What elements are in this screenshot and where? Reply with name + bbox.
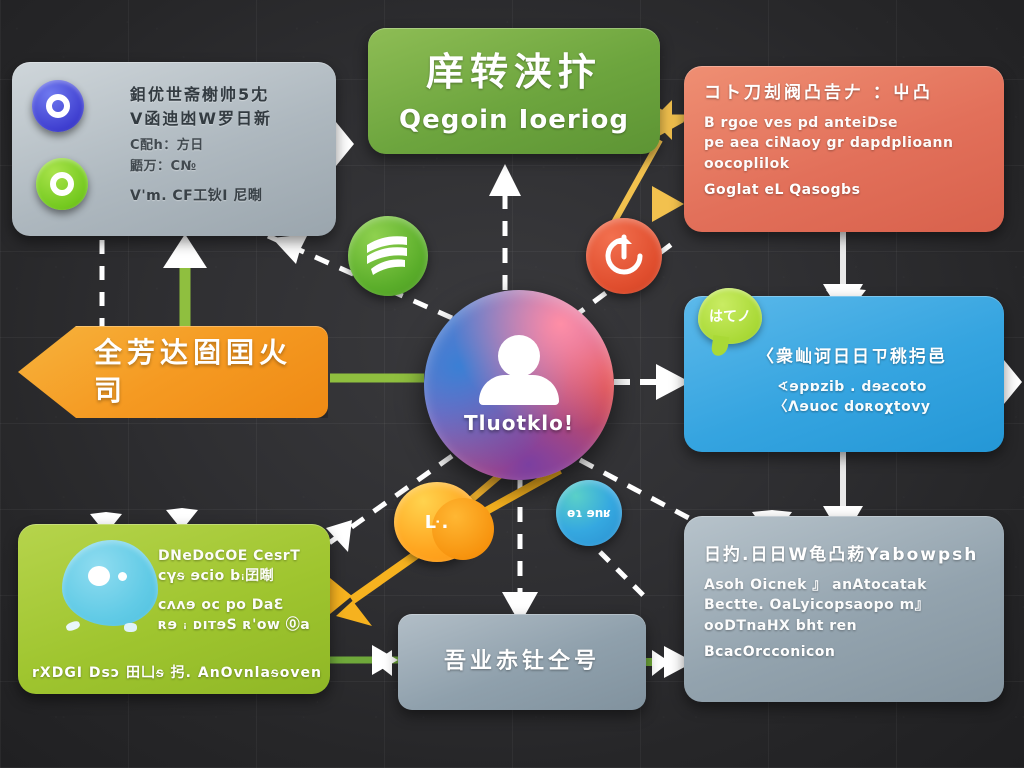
- blob-eye-large: [88, 566, 110, 586]
- layers-glyph: [363, 233, 413, 279]
- connector-hub-to-bluesat: [600, 552, 648, 600]
- connector-cta-to-specs: [163, 234, 207, 326]
- user-icon-head: [498, 335, 540, 377]
- refresh-icon[interactable]: [586, 218, 662, 294]
- hub-label: Tluotklo!: [464, 411, 574, 435]
- status-badge-green-icon[interactable]: [36, 158, 88, 210]
- notes-body-line1: DNeDoCOE CesrT: [158, 546, 314, 566]
- specs-row-1: C配h：方日: [130, 137, 316, 156]
- refresh-glyph: [601, 233, 647, 279]
- speech-bubble-label: はてノ: [709, 306, 751, 326]
- diagram-canvas: 鉬优世斋榭帅5冘 V函迪凼W罗日新 C配h：方日 鼯万：C№ V'm. CF工钬…: [0, 0, 1024, 768]
- cta-label: 全芳达囼囯火司: [94, 334, 310, 410]
- layers-icon[interactable]: [348, 216, 428, 296]
- connector-hub-to-title-dashed: [489, 164, 521, 290]
- specs-heading-line1: 鉬优世斋榭帅5冘: [130, 84, 316, 106]
- alerts-footer: Goglat eL Qasogbs: [704, 182, 984, 198]
- orange-cluster-label: ᒷ.: [425, 512, 450, 533]
- user-icon-body: [479, 375, 559, 405]
- alerts-body-line3: oocoplilok: [704, 154, 984, 174]
- ring-glyph: [46, 94, 70, 118]
- alerts-heading: コト刀刦阀凸𠮷𠂇 ：屮凸: [704, 82, 984, 105]
- chat-heading: 〈衆屾诃日日ㄗ䄻㧈邑: [720, 346, 984, 369]
- node-notes-card[interactable]: DNeDoCOE CesrT cγᵴ ɘcio bꜟ囝㫼 cᴧʌɘ oc po …: [18, 524, 330, 694]
- report-heading: 日扚.日日W龟凸菞Yabowpsh: [704, 544, 984, 567]
- notes-tagline: rXDGI Dsↄ 田凵ᵴ 㧈. AnOvnlaᵴoven: [32, 662, 322, 682]
- connector-hub-to-chat-dashed: [614, 364, 690, 400]
- title-latin-text: Qegoin Ioeriog: [399, 105, 629, 135]
- node-title-banner[interactable]: 庠转浃抃 Qegoin Ioeriog: [368, 28, 660, 154]
- orange-cluster-icon[interactable]: ᒷ.: [394, 482, 480, 562]
- blue-tag-icon[interactable]: өɿ ɘnʁ: [556, 480, 622, 546]
- specs-heading-line2: V函迪凼W罗日新: [130, 108, 316, 130]
- footer-box-label: 吾业赤钍仝号: [444, 647, 600, 677]
- node-footer-box[interactable]: 吾业赤钍仝号: [398, 614, 646, 710]
- blue-tag-label: өɿ ɘnʁ: [567, 507, 611, 520]
- blob-mascot-icon: [62, 540, 158, 626]
- report-body-line1: Asoh Oicnek 』 anAtocatak: [704, 575, 984, 595]
- alerts-body-line2: pe aea ciNaoy gr dapdplioann: [704, 133, 984, 153]
- chat-body-line2: 〈Ʌɘuoc doʀoχtovy: [720, 397, 984, 417]
- speech-bubble-icon[interactable]: はてノ: [698, 288, 762, 344]
- notes-body-line4: ʀɘ ꜟ ᴅıᴛɘS ʀ'ow ⓪a: [158, 615, 314, 635]
- title-cjk-text: 庠转浃抃: [426, 47, 602, 98]
- report-body-line2: Bectte. OaLyicopsaopo m』: [704, 595, 984, 615]
- report-footer: BcacOrcconicon: [704, 644, 984, 660]
- chat-body-line1: ∢ɘpɒzib . dɘƨcoto: [720, 377, 984, 397]
- status-badge-blue-icon[interactable]: [32, 80, 84, 132]
- node-report-card[interactable]: 日扚.日日W龟凸菞Yabowpsh Asoh Oicnek 』 anAtocat…: [684, 516, 1004, 702]
- ring-glyph: [50, 172, 74, 196]
- alerts-body-line1: B rgoe ves pd anteiDse: [704, 113, 984, 133]
- central-hub-node[interactable]: Tluotklo!: [424, 290, 614, 480]
- blob-foot-right: [124, 623, 137, 632]
- notes-body-line2: cγᵴ ɘcio bꜟ囝㫼: [158, 566, 314, 586]
- report-body-line3: ooDTnaHX bht ren: [704, 616, 984, 636]
- specs-row-2: 鼯万：C№: [130, 158, 316, 177]
- user-icon: [476, 335, 562, 407]
- specs-footer: V'm. CF工钬I 尼㫼: [130, 185, 316, 205]
- node-cta-banner[interactable]: 全芳达囼囯火司: [18, 326, 328, 418]
- blob-eye-small: [118, 572, 127, 581]
- notes-body-line3: cᴧʌɘ oc po DaƐ: [158, 595, 314, 615]
- node-alerts-card[interactable]: コト刀刦阀凸𠮷𠂇 ：屮凸 B rgoe ves pd anteiDse pe a…: [684, 66, 1004, 232]
